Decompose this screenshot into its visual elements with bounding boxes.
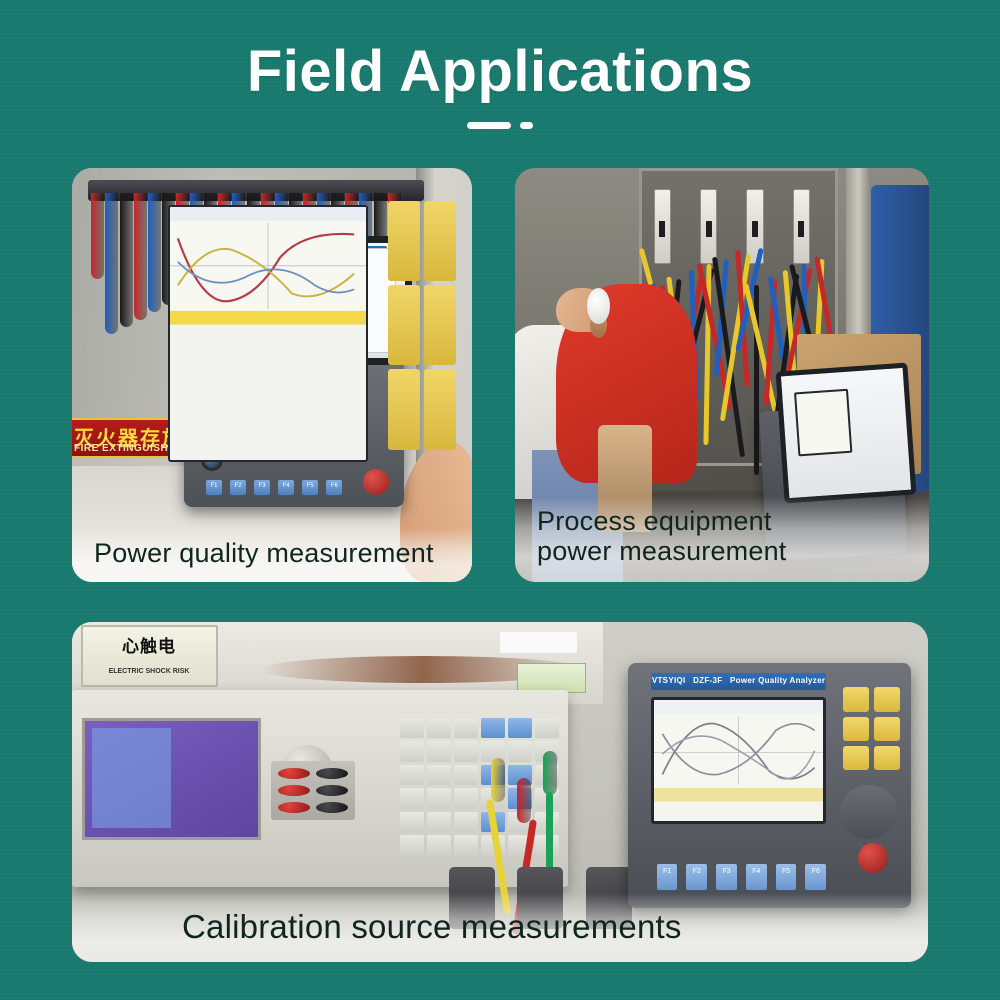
power-button-icon	[363, 469, 389, 495]
function-key: F1	[657, 864, 678, 891]
power-button-icon	[858, 843, 888, 873]
divider-dash-short	[520, 122, 533, 129]
device-type: Power Quality Analyzer	[730, 676, 825, 685]
function-key: F3	[254, 480, 270, 495]
waveform-graph	[654, 700, 823, 801]
card-caption-process-equipment: Process equipment power measurement	[515, 496, 929, 582]
analyzer-screen	[168, 205, 368, 462]
function-key: F2	[686, 864, 707, 891]
analyzer-function-keys: F1F2F3F4F5F6	[657, 864, 826, 891]
analyzer-lid-document	[776, 362, 917, 503]
function-key: F2	[230, 480, 246, 495]
photo-power-quality: 灭火器存放点 FIRE EXTINGUISHER F1F2F3F4F5F6 VT…	[72, 168, 472, 582]
analyzer-keypad	[388, 201, 456, 449]
photo-card-power-quality[interactable]: 灭火器存放点 FIRE EXTINGUISHER F1F2F3F4F5F6 VT…	[72, 168, 472, 582]
model-name: DZF-3F	[693, 676, 722, 685]
warning-sign-chinese: 心触电	[83, 632, 216, 657]
navigation-dpad-icon	[840, 785, 896, 839]
brand-strip: VTSYIQI DZF-3F Power Quality Analyzer	[651, 673, 826, 690]
electric-shock-warning-sign: 心触电 ELECTRIC SHOCK RISK	[81, 625, 218, 686]
terminal-block	[271, 761, 355, 820]
photo-card-calibration-source[interactable]: 心触电 ELECTRIC SHOCK RISK VTSYIQI DZF-3F	[72, 622, 928, 962]
hair-cap	[587, 288, 610, 324]
photo-card-process-equipment[interactable]: Process equipment power measurement	[515, 168, 929, 582]
function-key: F5	[776, 864, 797, 891]
analyzer-body: VTSYIQI DZF-3F Power Quality Analyzer	[628, 663, 910, 908]
analyzer-function-keys: F1F2F3F4F5F6	[206, 477, 342, 498]
divider-dash-long	[467, 122, 511, 129]
header: Field Applications	[0, 0, 1000, 160]
function-key: F1	[206, 480, 222, 495]
card-caption-calibration-source: Calibration source measurements	[72, 893, 928, 962]
function-key: F4	[278, 480, 294, 495]
warning-sign-english: ELECTRIC SHOCK RISK	[83, 668, 216, 675]
waveform-graph	[170, 207, 366, 325]
title-divider	[0, 122, 1000, 129]
analyzer-keypad	[843, 687, 899, 770]
function-key: F6	[805, 864, 826, 891]
function-key: F3	[716, 864, 737, 891]
page-title: Field Applications	[0, 38, 1000, 105]
function-key: F4	[746, 864, 767, 891]
brand-label: VTSYIQI DZF-3F Power Quality Analyzer	[651, 673, 826, 690]
brand-name: VTSYIQI	[652, 676, 686, 685]
function-key: F6	[326, 480, 342, 495]
function-key: F5	[302, 480, 318, 495]
calibration-display	[82, 718, 261, 840]
analyzer-screen	[651, 697, 826, 824]
card-caption-power-quality: Power quality measurement	[72, 528, 472, 582]
calibration-keypad	[400, 718, 559, 856]
